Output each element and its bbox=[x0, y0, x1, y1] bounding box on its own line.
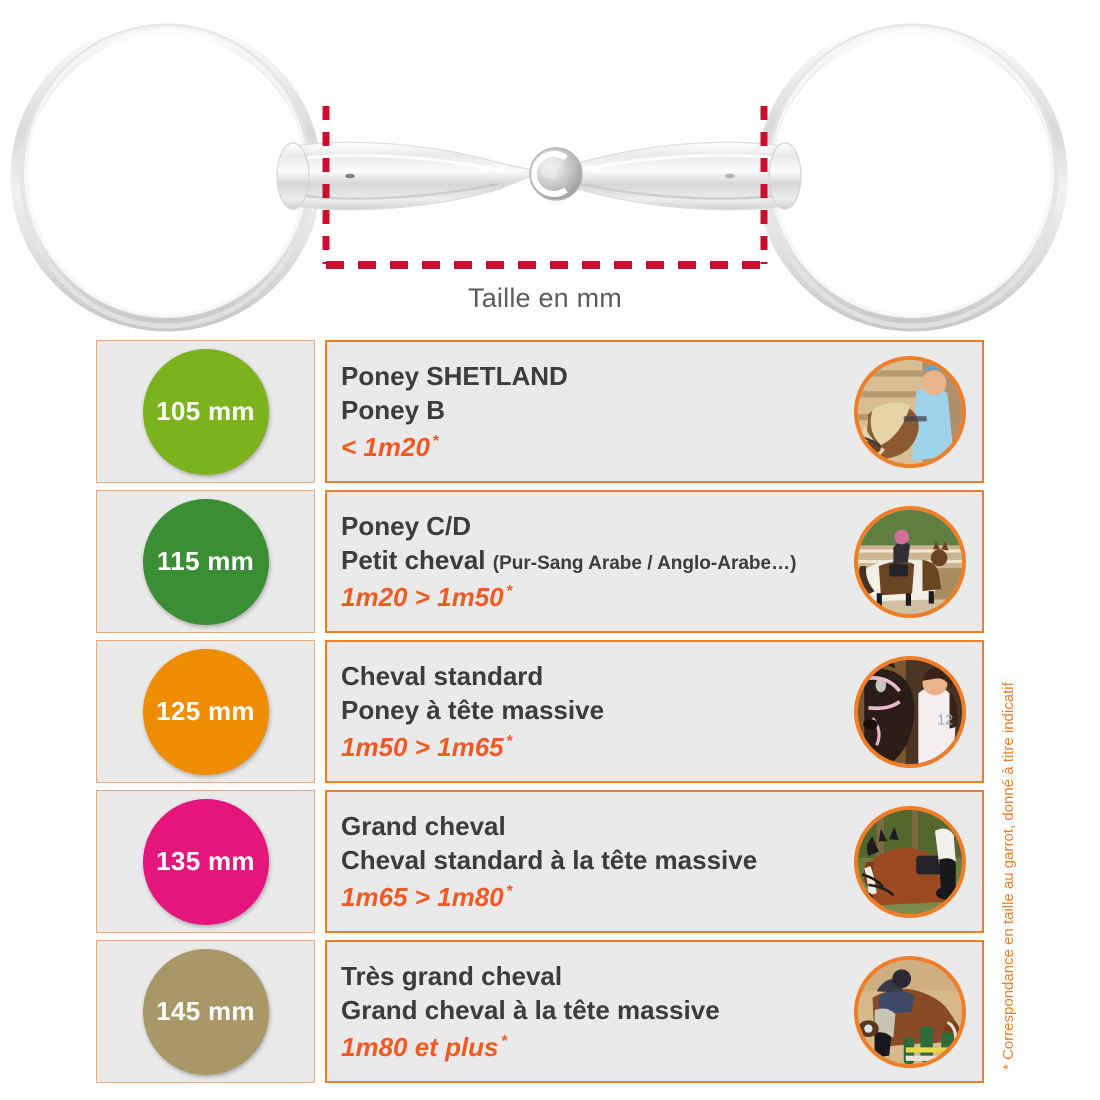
footnote-star: * bbox=[507, 583, 513, 600]
height-range-value: 1m65 > 1m80 bbox=[341, 882, 504, 912]
height-range: < 1m20* bbox=[341, 430, 844, 464]
category-line-2-main: Cheval standard à la tête massive bbox=[341, 845, 757, 875]
footnote-star: * bbox=[433, 433, 439, 450]
bit-right-ring bbox=[764, 26, 1060, 326]
child-riding-pinto-pony-image bbox=[858, 510, 962, 614]
rider-with-dark-bay-horse-image: 12 bbox=[858, 660, 962, 764]
svg-text:12: 12 bbox=[937, 712, 953, 728]
bit-center-joint bbox=[530, 148, 582, 200]
info-text: Poney C/D Petit cheval (Pur-Sang Arabe /… bbox=[341, 509, 854, 614]
info-cell: Poney SHETLAND Poney B < 1m20* bbox=[325, 340, 984, 483]
height-range-value: 1m50 > 1m65 bbox=[341, 732, 504, 762]
category-line-2-sub: (Pur-Sang Arabe / Anglo-Arabe…) bbox=[493, 553, 797, 574]
height-range-value: 1m20 > 1m50 bbox=[341, 582, 504, 612]
size-table: 105 mm Poney SHETLAND Poney B < 1m20* bbox=[96, 340, 984, 1083]
row-photo: 12 bbox=[854, 656, 966, 768]
category-line-2-main: Poney B bbox=[341, 395, 445, 425]
category-line-2: Petit cheval (Pur-Sang Arabe / Anglo-Ara… bbox=[341, 543, 844, 577]
info-text: Très grand cheval Grand cheval à la tête… bbox=[341, 959, 854, 1064]
info-cell: Cheval standard Poney à tête massive 1m5… bbox=[325, 640, 984, 783]
measure-label: Taille en mm bbox=[325, 283, 765, 314]
bit-left-arm bbox=[277, 142, 540, 209]
category-line-1: Cheval standard bbox=[341, 659, 844, 693]
category-line-2: Grand cheval à la tête massive bbox=[341, 993, 844, 1027]
size-badge: 125 mm bbox=[143, 649, 269, 775]
category-line-1: Poney C/D bbox=[341, 509, 844, 543]
info-text: Cheval standard Poney à tête massive 1m5… bbox=[341, 659, 854, 764]
size-cell: 115 mm bbox=[96, 490, 315, 633]
height-range: 1m65 > 1m80* bbox=[341, 880, 844, 914]
table-row[interactable]: 145 mm Très grand cheval Grand cheval à … bbox=[96, 940, 984, 1083]
height-range-value: 1m80 et plus bbox=[341, 1032, 499, 1062]
category-line-2-main: Grand cheval à la tête massive bbox=[341, 995, 720, 1025]
category-line-1: Grand cheval bbox=[341, 809, 844, 843]
info-cell: Grand cheval Cheval standard à la tête m… bbox=[325, 790, 984, 933]
table-row[interactable]: 135 mm Grand cheval Cheval standard à la… bbox=[96, 790, 984, 933]
info-text: Poney SHETLAND Poney B < 1m20* bbox=[341, 359, 854, 464]
category-line-2: Cheval standard à la tête massive bbox=[341, 843, 844, 877]
table-row[interactable]: 125 mm Cheval standard Poney à tête mass… bbox=[96, 640, 984, 783]
size-cell: 135 mm bbox=[96, 790, 315, 933]
row-photo bbox=[854, 506, 966, 618]
size-cell: 105 mm bbox=[96, 340, 315, 483]
table-row[interactable]: 115 mm Poney C/D Petit cheval (Pur-Sang … bbox=[96, 490, 984, 633]
category-line-2-main: Poney à tête massive bbox=[341, 695, 604, 725]
height-range-value: < 1m20 bbox=[341, 432, 430, 462]
row-photo bbox=[854, 956, 966, 1068]
footnote-star: * bbox=[502, 1033, 508, 1050]
info-cell: Très grand cheval Grand cheval à la tête… bbox=[325, 940, 984, 1083]
category-line-2: Poney à tête massive bbox=[341, 693, 844, 727]
chestnut-horse-with-rider-image bbox=[858, 810, 962, 914]
category-line-2-main: Petit cheval bbox=[341, 545, 486, 575]
height-range: 1m80 et plus* bbox=[341, 1030, 844, 1064]
bit-left-ring bbox=[18, 26, 314, 326]
category-line-1: Très grand cheval bbox=[341, 959, 844, 993]
bit-illustration: Taille en mm bbox=[0, 0, 1100, 335]
size-cell: 145 mm bbox=[96, 940, 315, 1083]
info-cell: Poney C/D Petit cheval (Pur-Sang Arabe /… bbox=[325, 490, 984, 633]
height-range: 1m20 > 1m50* bbox=[341, 580, 844, 614]
footnote-vertical: * Correspondance en taille au garrot, do… bbox=[1000, 682, 1017, 1070]
footnote-star: * bbox=[507, 883, 513, 900]
size-badge: 115 mm bbox=[143, 499, 269, 625]
size-badge: 145 mm bbox=[143, 949, 269, 1075]
height-range: 1m50 > 1m65* bbox=[341, 730, 844, 764]
info-text: Grand cheval Cheval standard à la tête m… bbox=[341, 809, 854, 914]
row-photo bbox=[854, 356, 966, 468]
table-row[interactable]: 105 mm Poney SHETLAND Poney B < 1m20* bbox=[96, 340, 984, 483]
size-badge: 105 mm bbox=[143, 349, 269, 475]
child-with-shetland-pony-image bbox=[858, 360, 962, 464]
size-badge: 135 mm bbox=[143, 799, 269, 925]
size-cell: 125 mm bbox=[96, 640, 315, 783]
row-photo bbox=[854, 806, 966, 918]
category-line-2: Poney B bbox=[341, 393, 844, 427]
footnote-star: * bbox=[507, 733, 513, 750]
category-line-1: Poney SHETLAND bbox=[341, 359, 844, 393]
showjumping-horse-over-fence-image bbox=[858, 960, 962, 1064]
